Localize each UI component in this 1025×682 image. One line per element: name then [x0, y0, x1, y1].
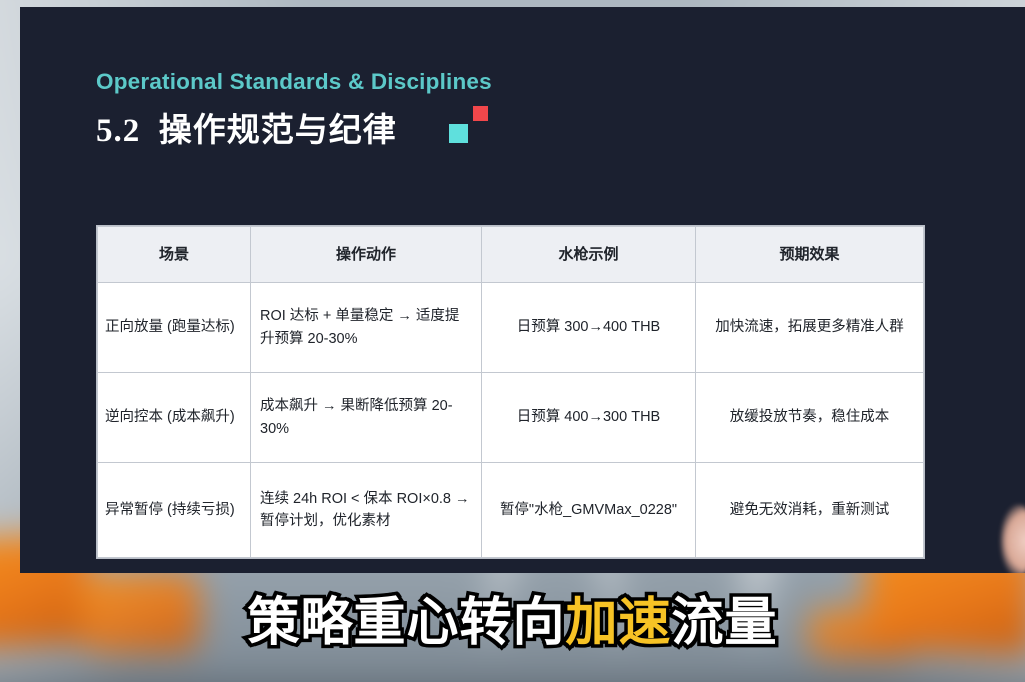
cell-example: 日预算 400→300 THB [482, 373, 696, 463]
slide-eyebrow: Operational Standards & Disciplines [96, 68, 497, 95]
slide-panel: Operational Standards & Disciplines 5.2 … [20, 7, 1025, 573]
cell-effect: 加快流速，拓展更多精准人群 [696, 283, 924, 373]
caption-segment-3: 流量 [672, 594, 778, 652]
section-title: 操作规范与纪律 [159, 113, 397, 149]
cell-action: ROI 达标 + 单量稳定 → 适度提升预算 20-30% [251, 283, 482, 373]
background-floor [0, 662, 1025, 682]
table-row: 逆向控本 (成本飙升) 成本飙升 → 果断降低预算 20-30% 日预算 400… [98, 373, 924, 463]
slide-title-row: 5.2 操作规范与纪律 [96, 103, 497, 151]
red-square-icon [473, 106, 488, 121]
page-title: 5.2 操作规范与纪律 [96, 103, 397, 151]
cyan-square-icon [449, 124, 468, 143]
cell-effect: 避免无效消耗，重新测试 [696, 463, 924, 558]
cell-scenario: 正向放量 (跑量达标) [98, 283, 251, 373]
cell-example: 暂停"水枪_GMVMax_0228" [482, 463, 696, 558]
caption-segment-2: 加速 [565, 594, 671, 652]
column-header-example: 水枪示例 [482, 227, 696, 283]
section-number: 5.2 [96, 113, 140, 149]
table-header-row: 场景 操作动作 水枪示例 预期效果 [98, 227, 924, 283]
cell-effect: 放缓投放节奏，稳住成本 [696, 373, 924, 463]
decoration-squares [443, 106, 497, 148]
cell-scenario: 逆向控本 (成本飙升) [98, 373, 251, 463]
cell-scenario: 异常暂停 (持续亏损) [98, 463, 251, 558]
table-row: 正向放量 (跑量达标) ROI 达标 + 单量稳定 → 适度提升预算 20-30… [98, 283, 924, 373]
caption-segment-1: 策略重心转向 [247, 594, 565, 652]
operational-standards-table: 场景 操作动作 水枪示例 预期效果 正向放量 (跑量达标) ROI 达标 + 单… [97, 226, 924, 558]
video-caption: 策略重心转向加速流量 [0, 594, 1025, 652]
table-row: 异常暂停 (持续亏损) 连续 24h ROI < 保本 ROI×0.8 → 暂停… [98, 463, 924, 558]
cell-action: 连续 24h ROI < 保本 ROI×0.8 → 暂停计划，优化素材 [251, 463, 482, 558]
column-header-effect: 预期效果 [696, 227, 924, 283]
cell-example: 日预算 300→400 THB [482, 283, 696, 373]
cell-action: 成本飙升 → 果断降低预算 20-30% [251, 373, 482, 463]
table-body: 正向放量 (跑量达标) ROI 达标 + 单量稳定 → 适度提升预算 20-30… [98, 283, 924, 558]
column-header-scenario: 场景 [98, 227, 251, 283]
slide-heading-block: Operational Standards & Disciplines 5.2 … [96, 68, 497, 151]
column-header-action: 操作动作 [251, 227, 482, 283]
hand-silhouette [1001, 505, 1025, 573]
table-header: 场景 操作动作 水枪示例 预期效果 [98, 227, 924, 283]
